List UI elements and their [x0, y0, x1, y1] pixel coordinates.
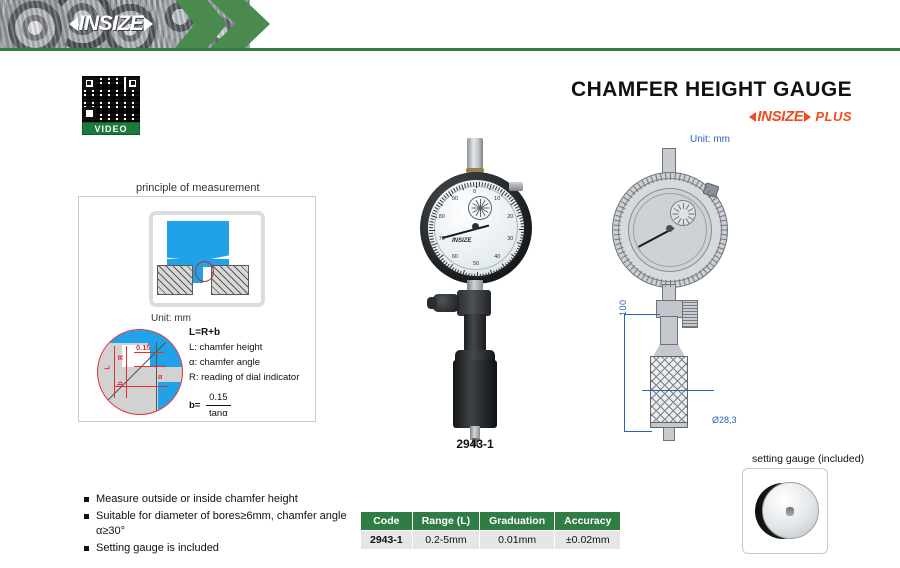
setting-gauge-label: setting gauge (included) — [752, 453, 864, 465]
logo-left-arrow-icon — [69, 17, 78, 31]
gauge-body — [453, 360, 497, 428]
insize-brand-logo: INSIZE — [52, 11, 170, 37]
principle-caption: principle of measurement — [136, 182, 260, 194]
qr-eye-dot-tl — [87, 81, 91, 85]
dim-line-mid — [134, 366, 166, 367]
dim-label-diameter: Ø28,3 — [712, 415, 737, 425]
clamp-knob-shaft — [427, 297, 437, 309]
dial-numeral: 60 — [452, 254, 458, 260]
feature-list: Measure outside or inside chamfer height… — [82, 492, 352, 557]
dim-label-b: b — [118, 381, 125, 385]
dim-line-R — [126, 346, 127, 374]
dial-numeral: 90 — [452, 196, 458, 202]
technical-drawing: 100 Ø28,3 — [600, 148, 780, 428]
workpiece-blue — [167, 221, 229, 261]
dim-label-alpha: α — [158, 374, 162, 381]
dim-label-R: R — [118, 355, 125, 360]
principle-of-measurement-panel: Unit: mm L R b 0.15 α L=R+b L: chamfer h… — [78, 196, 316, 422]
page-title: CHAMFER HEIGHT GAUGE — [571, 78, 852, 102]
dial-numeral: 30 — [507, 236, 513, 242]
formula-legend-alpha: α: chamfer angle — [189, 355, 313, 370]
qr-eye-dot-bl — [87, 111, 91, 115]
dim-line-base — [114, 386, 168, 387]
cell-range: 0.2-5mm — [412, 531, 479, 550]
formula-b-denominator: tanα — [206, 406, 231, 421]
fixture-hatch-right — [211, 265, 249, 295]
dial-numeral: 20 — [507, 214, 513, 220]
feature-item: Measure outside or inside chamfer height — [82, 492, 352, 508]
dim-ext-line-top — [624, 314, 660, 315]
unit-label: Unit: mm — [690, 134, 730, 145]
formula-b-label: b= — [189, 400, 200, 411]
formula-main: L=R+b — [189, 325, 313, 340]
principle-top-diagram — [149, 211, 265, 307]
formula-legend-L: L: chamfer height — [189, 340, 313, 355]
dial-numeral: 50 — [473, 261, 479, 267]
qr-eye-dot-tr — [131, 81, 135, 85]
title-block: CHAMFER HEIGHT GAUGE INSIZE PLUS — [571, 78, 852, 125]
table-head: Code Range (L) Graduation Accuracy — [361, 512, 621, 531]
indicator-stem — [467, 138, 483, 170]
cell-accuracy: ±0.02mm — [555, 531, 621, 550]
column-header-accuracy: Accuracy — [555, 512, 621, 531]
column-header-code: Code — [361, 512, 413, 531]
table-header-row: Code Range (L) Graduation Accuracy — [361, 512, 621, 531]
setting-gauge-center-hole — [786, 507, 794, 516]
principle-unit-label: Unit: mm — [151, 313, 191, 324]
product-code-caption: 2943-1 — [405, 437, 545, 451]
dial-numeral: 10 — [494, 196, 500, 202]
principle-formula-block: L=R+b L: chamfer height α: chamfer angle… — [189, 325, 313, 421]
dim-diameter-line — [642, 390, 714, 391]
drawing-measuring-pin — [663, 427, 675, 441]
table-row: 2943-1 0.2-5mm 0.01mm ±0.02mm — [361, 531, 621, 550]
video-qr-block[interactable]: VIDEO — [82, 76, 140, 135]
dim-line-015 — [134, 352, 164, 353]
insize-logo-text: INSIZE — [79, 12, 144, 36]
dim-vertical-line — [624, 314, 625, 432]
clamp-block — [457, 290, 491, 316]
dial-numeral: 40 — [494, 254, 500, 260]
dim-label-height: 100 — [618, 299, 628, 316]
plus-right-arrow-icon — [804, 112, 811, 122]
column-header-graduation: Graduation — [480, 512, 555, 531]
plus-left-arrow-icon — [749, 112, 756, 122]
dial-lug — [509, 182, 523, 191]
formula-legend-R: R: reading of dial indicator — [189, 370, 313, 385]
drawing-knurled-knob — [682, 300, 698, 328]
dim-label-015: 0.15 — [136, 343, 151, 352]
header-banner: INSIZE — [0, 0, 900, 50]
dim-line-L — [114, 346, 115, 398]
dial-numeral: 0 — [473, 189, 476, 195]
logo-right-arrow-icon — [144, 17, 153, 31]
dial-numeral: 80 — [439, 214, 445, 220]
formula-b-fraction: 0.15 tanα — [206, 390, 231, 421]
feature-item: Setting gauge is included — [82, 541, 352, 557]
setting-gauge-image-box — [742, 468, 828, 554]
column-header-range: Range (L) — [412, 512, 479, 531]
product-photo: INSIZE 0102030405060708090 — [405, 138, 545, 428]
plus-suffix-text: PLUS — [815, 109, 852, 124]
insize-plus-logo-text: INSIZE — [757, 108, 803, 125]
feature-list-ul: Measure outside or inside chamfer height… — [82, 492, 352, 556]
cell-graduation: 0.01mm — [480, 531, 555, 550]
detail-highlight-circle — [195, 261, 214, 282]
header-divider-rule — [0, 48, 900, 51]
qr-code-icon[interactable] — [82, 76, 140, 122]
feature-item: Suitable for diameter of bores≥6mm, cham… — [82, 509, 352, 540]
dim-ext-line-bottom — [624, 431, 652, 432]
cell-code: 2943-1 — [361, 531, 413, 550]
principle-detail-circle: L R b 0.15 α — [97, 329, 183, 415]
fixture-hatch-left — [157, 265, 193, 295]
specification-table: Code Range (L) Graduation Accuracy 2943-… — [360, 511, 621, 550]
video-label: VIDEO — [82, 122, 140, 135]
formula-b-numerator: 0.15 — [206, 390, 231, 406]
dim-label-L: L — [105, 365, 112, 369]
table-body: 2943-1 0.2-5mm 0.01mm ±0.02mm — [361, 531, 621, 550]
drawing-shaft — [660, 316, 678, 346]
insize-plus-logo: INSIZE PLUS — [571, 108, 852, 125]
dial-numeral: 70 — [439, 236, 445, 242]
